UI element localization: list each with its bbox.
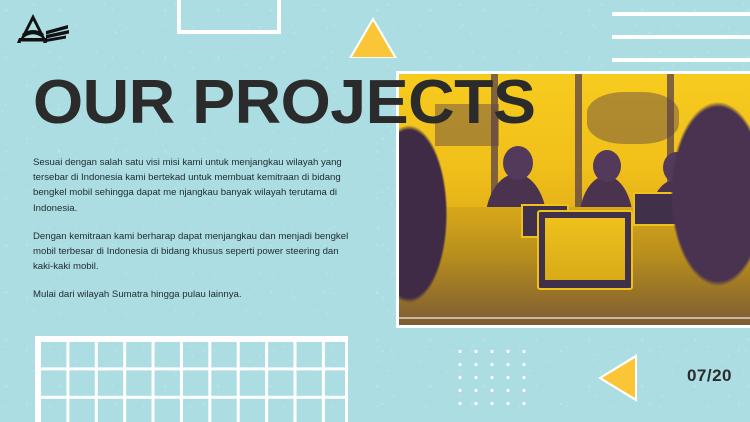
photo-laptop-screen <box>545 218 625 280</box>
decor-dot-grid <box>452 345 530 413</box>
decor-stripe-3 <box>612 58 750 62</box>
body-paragraph-2: Dengan kemitraan kami berharap dapat men… <box>33 229 355 275</box>
decor-grid-pattern <box>35 336 348 422</box>
page-number: 07/20 <box>687 366 732 386</box>
triangle-left-icon <box>602 358 635 398</box>
photo-person-left-head <box>503 146 533 180</box>
decor-stripe-1 <box>612 12 750 16</box>
decor-rectangle-outline <box>177 0 281 34</box>
triangle-up-icon <box>352 21 394 57</box>
photo-foreground-silhouette-right <box>640 74 750 328</box>
body-copy: Sesuai dengan salah satu visi misi kami … <box>33 155 355 303</box>
decor-horizontal-stripes <box>612 8 750 66</box>
body-paragraph-3: Mulai dari wilayah Sumatra hingga pulau … <box>33 287 355 302</box>
body-paragraph-1: Sesuai dengan salah satu visi misi kami … <box>33 155 355 216</box>
photo-person-middle-head <box>593 150 621 182</box>
brand-logo <box>16 12 72 46</box>
page-title: OUR PROJECTS <box>33 72 536 134</box>
presentation-slide: OUR PROJECTS Sesuai dengan salah satu vi… <box>0 0 750 422</box>
decor-stripe-2 <box>612 35 750 39</box>
photo-hairline-rule <box>399 317 750 319</box>
